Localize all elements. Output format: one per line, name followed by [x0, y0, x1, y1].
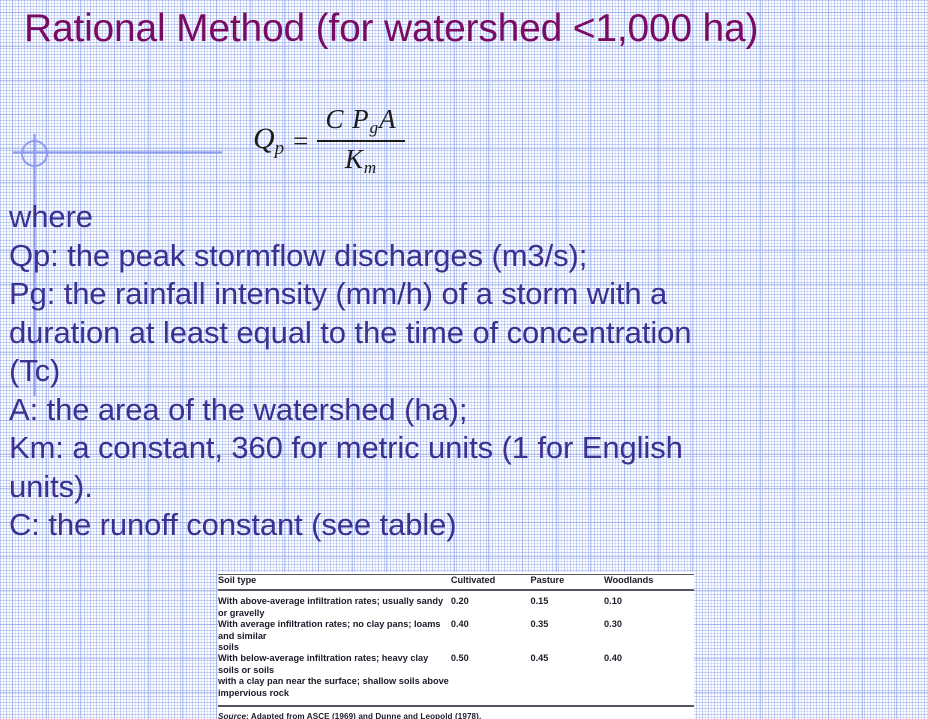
equation-numerator-a: A [379, 104, 397, 134]
cell-woodlands: 0.30 [602, 619, 694, 642]
cell-empty [529, 676, 603, 687]
cell-soil-type-continuation: with a clay pan near the surface; shallo… [218, 676, 449, 687]
table-rule-header [218, 589, 694, 591]
source-label: Source [218, 712, 246, 719]
text-line: (Tc) [9, 352, 819, 391]
text-line: C: the runoff constant (see table) [9, 506, 819, 545]
text-line: duration at least equal to the time of c… [9, 314, 819, 353]
cell-cultivated: 0.20 [449, 596, 529, 619]
table-row: With below-average infiltration rates; h… [218, 653, 694, 676]
slide-canvas: Rational Method (for watershed <1,000 ha… [0, 0, 928, 719]
text-line: A: the area of the watershed (ha); [9, 391, 819, 430]
equation-numerator-cp: C P [325, 104, 369, 134]
table-rule-bottom [218, 705, 694, 707]
cell-empty [529, 642, 603, 653]
equation-denominator-subscript: m [364, 158, 377, 177]
table-row: With average infiltration rates; no clay… [218, 619, 694, 642]
cell-soil-type: With average infiltration rates; no clay… [218, 619, 449, 642]
runoff-coefficient-table: Soil type Cultivated Pasture Woodlands W… [218, 572, 694, 719]
equation-numerator: C PgA [317, 104, 404, 140]
equation-left-side: Qp [253, 122, 284, 160]
table-source-note: Source: Adapted from ASCE (1969) and Dun… [218, 711, 694, 719]
annotation-circle [22, 141, 47, 166]
cell-soil-type-continuation: impervious rock [218, 688, 449, 699]
cell-empty [449, 688, 529, 699]
table-row-continuation: with a clay pan near the surface; shallo… [218, 676, 694, 687]
definitions-text-block: where Qp: the peak stormflow discharges … [9, 198, 819, 545]
cell-pasture: 0.15 [529, 596, 603, 619]
cell-soil-type-continuation: soils [218, 642, 449, 653]
equation-numerator-subscript: g [370, 118, 380, 137]
column-header-pasture: Pasture [529, 575, 603, 586]
rational-method-equation: Qp = C PgA Km [253, 104, 405, 178]
cell-woodlands: 0.40 [602, 653, 694, 676]
cell-cultivated: 0.40 [449, 619, 529, 642]
equation-denominator-k: K [345, 144, 364, 174]
column-header-soil-type: Soil type [218, 575, 449, 586]
table-header-row: Soil type Cultivated Pasture Woodlands [218, 575, 694, 586]
equation-fraction: C PgA Km [317, 104, 404, 178]
text-line: Km: a constant, 360 for metric units (1 … [9, 429, 819, 468]
table-row: With above-average infiltration rates; u… [218, 596, 694, 619]
cell-empty [602, 676, 694, 687]
cell-pasture: 0.35 [529, 619, 603, 642]
equation-equals-sign: = [291, 126, 310, 157]
text-line: units). [9, 468, 819, 507]
cell-woodlands: 0.10 [602, 596, 694, 619]
cell-empty [602, 642, 694, 653]
text-line: where [9, 198, 819, 237]
text-line: Pg: the rainfall intensity (mm/h) of a s… [9, 275, 819, 314]
cell-empty [529, 688, 603, 699]
equation-q-symbol: Q [253, 122, 275, 155]
table-row-continuation: soils [218, 642, 694, 653]
cell-soil-type: With below-average infiltration rates; h… [218, 653, 449, 676]
cell-cultivated: 0.50 [449, 653, 529, 676]
cell-pasture: 0.45 [529, 653, 603, 676]
table-row-continuation: impervious rock [218, 688, 694, 699]
column-header-cultivated: Cultivated [449, 575, 529, 586]
cell-soil-type: With above-average infiltration rates; u… [218, 596, 449, 619]
column-header-woodlands: Woodlands [602, 575, 694, 586]
equation-q-subscript: p [275, 138, 285, 159]
text-line: Qp: the peak stormflow discharges (m3/s)… [9, 237, 819, 276]
page-title: Rational Method (for watershed <1,000 ha… [24, 8, 924, 51]
cell-empty [449, 642, 529, 653]
table: Soil type Cultivated Pasture Woodlands [218, 575, 694, 586]
cell-empty [449, 676, 529, 687]
equation-denominator: Km [317, 140, 404, 178]
cell-empty [602, 688, 694, 699]
source-text: : Adapted from ASCE (1969) and Dunne and… [246, 712, 481, 719]
table-body: With above-average infiltration rates; u… [218, 596, 694, 699]
